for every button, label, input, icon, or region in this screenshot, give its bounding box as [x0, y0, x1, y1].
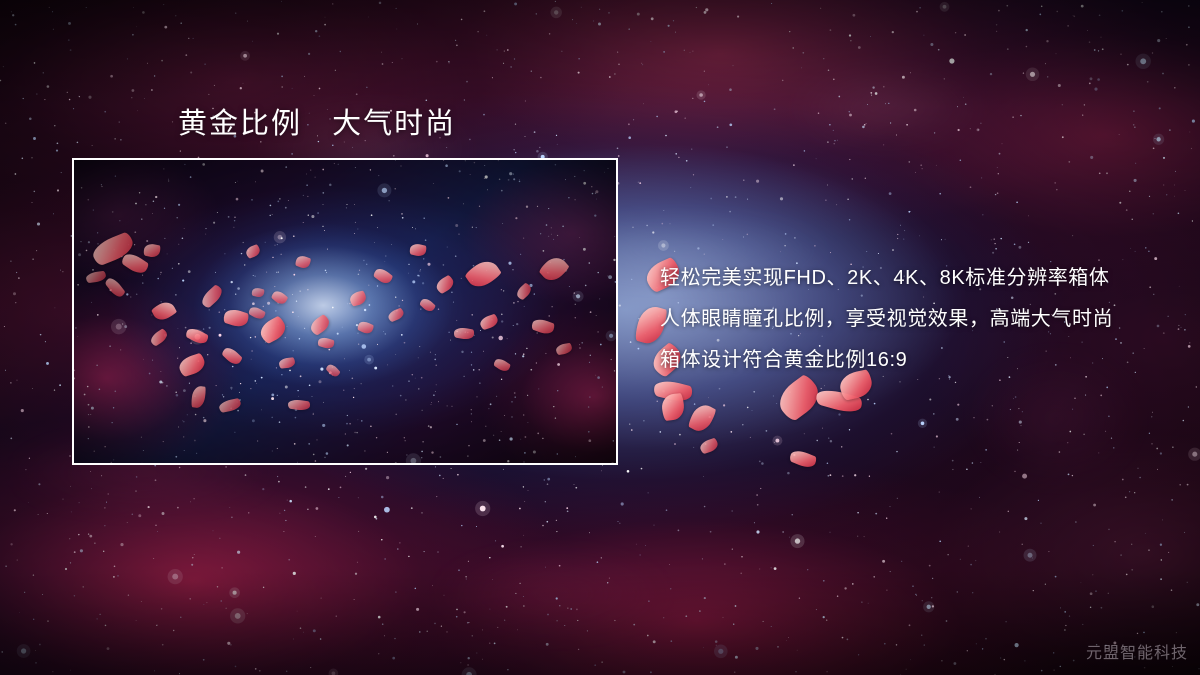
body-line: 轻松完美实现FHD、2K、4K、8K标准分辨率箱体	[660, 258, 1190, 299]
nebula-petals-photo	[74, 160, 616, 463]
petal	[687, 401, 718, 435]
framed-picture	[72, 158, 618, 465]
body-text-block: 轻松完美实现FHD、2K、4K、8K标准分辨率箱体 人体眼睛瞳孔比例，享受视觉效…	[660, 258, 1190, 381]
body-line: 箱体设计符合黄金比例16:9	[660, 340, 1190, 381]
watermark: 元盟智能科技	[1086, 639, 1188, 663]
petal	[814, 386, 863, 416]
petal	[661, 393, 686, 421]
slide-canvas: 黄金比例 大气时尚 轻松完美实现FHD、2K、4K、8K标准分辨率箱体 人体眼睛…	[0, 0, 1200, 675]
page-title: 黄金比例 大气时尚	[178, 100, 456, 142]
petal	[699, 438, 720, 455]
petal	[652, 378, 693, 405]
body-line: 人体眼睛瞳孔比例，享受视觉效果，高端大气时尚	[660, 299, 1190, 340]
petal	[788, 448, 817, 471]
